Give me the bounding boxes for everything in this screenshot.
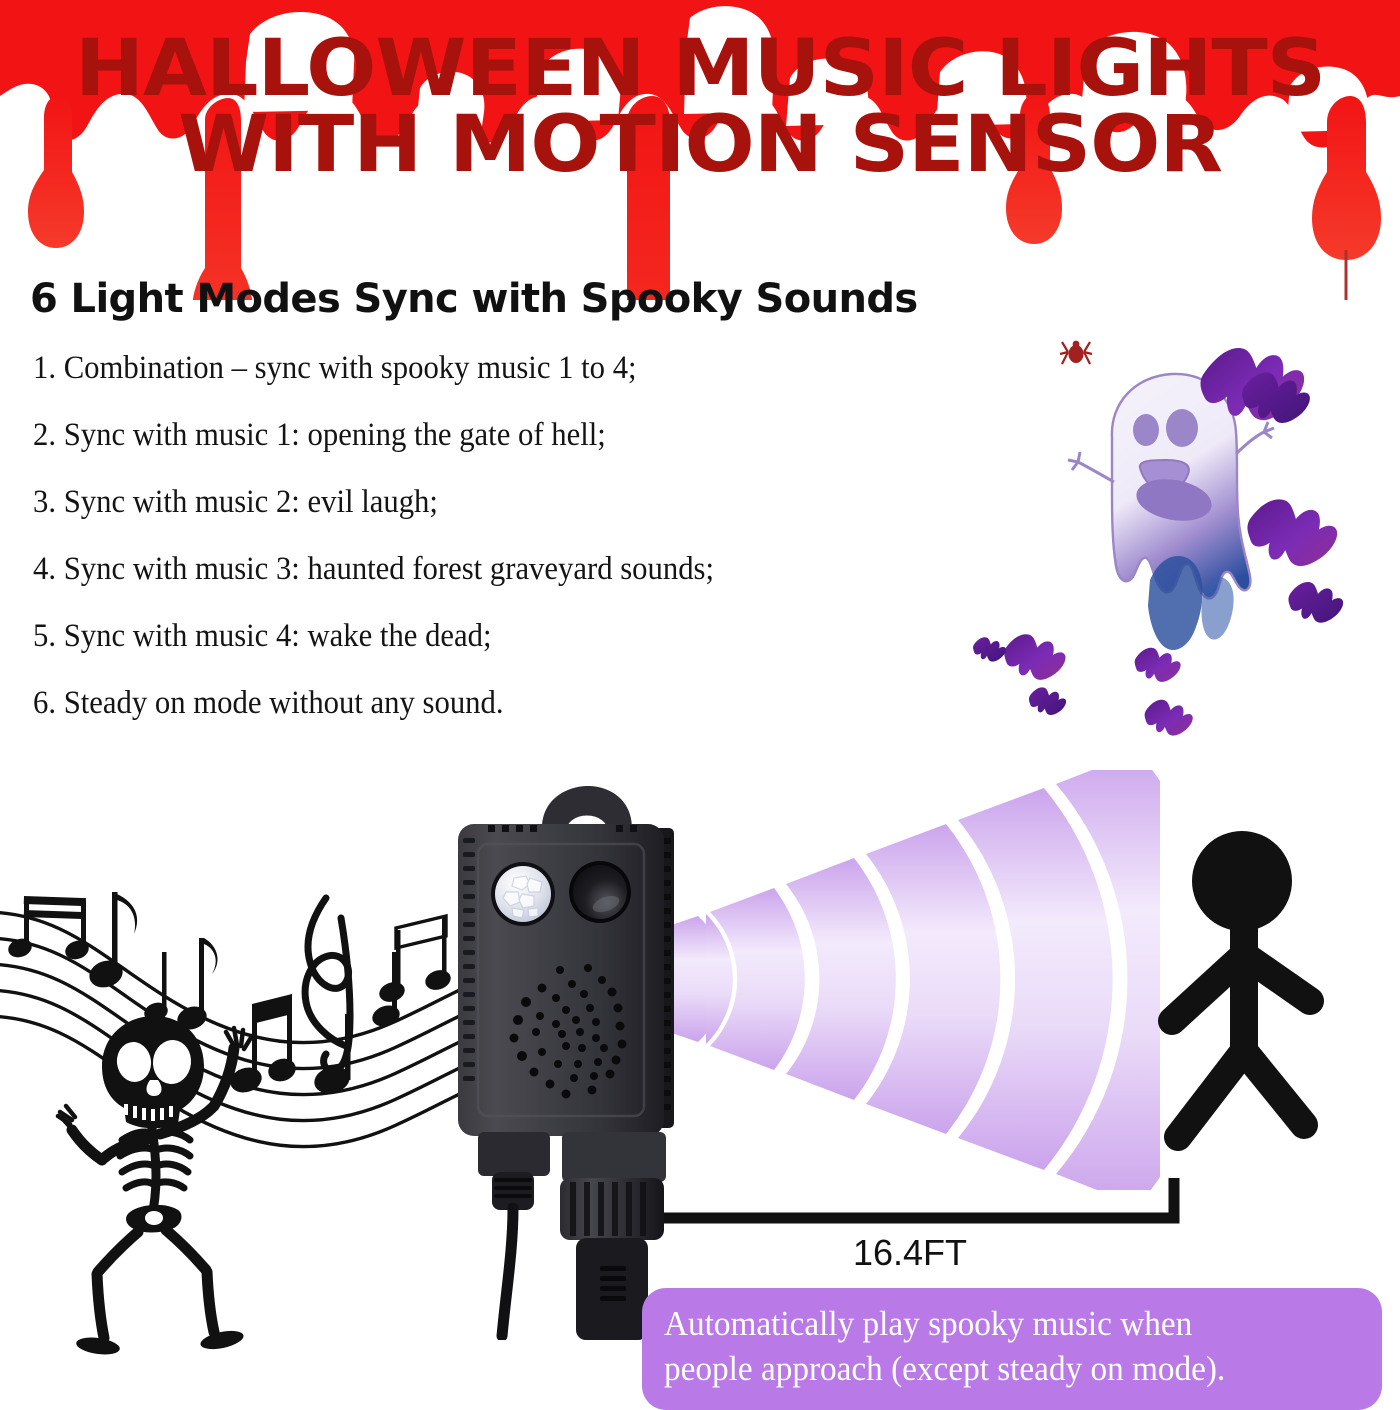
list-item: 1. Combination – sync with spooky music … <box>33 352 972 385</box>
feature-callout: Automatically play spooky music when peo… <box>642 1288 1382 1410</box>
spider-body <box>1069 345 1084 363</box>
music-note <box>86 892 137 992</box>
callout-line-2: people approach (except steady on mode). <box>664 1347 1325 1392</box>
ghost-eye-right <box>1166 409 1198 447</box>
motion-sensor-device <box>430 780 730 1340</box>
infographic-canvas: HALLOWEEN MUSIC LIGHTS WITH MOTION SENSO… <box>0 0 1400 1400</box>
blood-banner-shape <box>0 0 1400 300</box>
bat-icon <box>1135 648 1181 682</box>
section-subtitle: 6 Light Modes Sync with Spooky Sounds <box>30 276 918 322</box>
treble-clef-icon <box>305 898 350 1071</box>
thin-cable <box>492 1172 534 1336</box>
skeleton-icon <box>58 1016 252 1357</box>
sensor-housing <box>458 824 664 1136</box>
list-item: 5. Sync with music 4: wake the dead; <box>33 620 972 653</box>
ghost-icon <box>1068 374 1274 650</box>
bat-icon <box>1145 700 1193 736</box>
light-modes-list: 1. Combination – sync with spooky music … <box>33 352 1043 754</box>
music-note <box>142 952 170 1024</box>
list-item: 6. Steady on mode without any sound. <box>33 687 972 720</box>
list-item: 4. Sync with music 3: haunted forest gra… <box>33 553 972 586</box>
blood-banner: HALLOWEEN MUSIC LIGHTS WITH MOTION SENSO… <box>0 0 1400 270</box>
bat-icon <box>1247 499 1337 566</box>
list-item: 2. Sync with music 1: opening the gate o… <box>33 419 972 452</box>
list-item: 3. Sync with music 2: evil laugh; <box>33 486 972 519</box>
music-note <box>174 938 217 1033</box>
callout-line-1: Automatically play spooky music when <box>664 1302 1325 1347</box>
music-and-skeleton-artwork <box>0 890 494 1400</box>
music-note <box>6 896 91 962</box>
bat-icon <box>1288 582 1343 623</box>
stick-person-icon <box>1140 825 1370 1195</box>
ghost-eye-left <box>1133 414 1159 446</box>
